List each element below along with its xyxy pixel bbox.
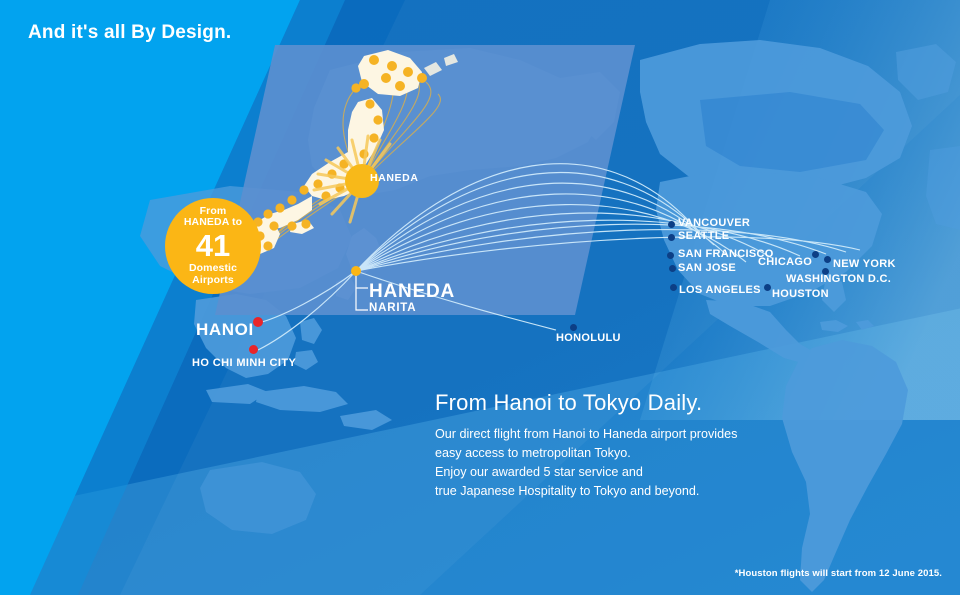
footnote: *Houston flights will start from 12 June… <box>735 568 942 579</box>
ho-chi-minh-city-dot <box>249 345 258 354</box>
seattle-dot <box>668 234 675 241</box>
new-york-dot <box>824 256 831 263</box>
marketing-copy-block: From Hanoi to Tokyo Daily. Our direct fl… <box>435 390 737 501</box>
chicago-dot <box>812 251 819 258</box>
honolulu-dot <box>570 324 577 331</box>
copy-line-1: Our direct flight from Hanoi to Haneda a… <box>435 425 737 444</box>
city-label-vancouver: VANCOUVER <box>678 217 750 229</box>
copy-title: From Hanoi to Tokyo Daily. <box>435 390 737 416</box>
city-label-seattle: SEATTLE <box>678 230 729 242</box>
houston-dot <box>764 284 771 291</box>
city-label-honolulu: HONOLULU <box>556 332 621 344</box>
badge-number: 41 <box>196 230 230 261</box>
san-francisco-dot <box>667 252 674 259</box>
city-label-ho-chi-minh-city: HO CHI MINH CITY <box>192 357 296 369</box>
city-label-hanoi: HANOI <box>196 320 254 340</box>
city-label-houston: HOUSTON <box>772 288 829 300</box>
copy-line-3: Enjoy our awarded 5 star service and <box>435 463 737 482</box>
washington-dc-dot <box>822 268 829 275</box>
city-label-san-jose: SAN JOSE <box>678 262 736 274</box>
city-label-narita: NARITA <box>369 302 416 314</box>
city-label-haneda: HANEDA <box>369 281 455 303</box>
city-label-los-angeles: LOS ANGELES <box>679 284 761 296</box>
infographic-canvas: HANEDA And it's all By Design. From HANE <box>0 0 960 595</box>
vancouver-dot <box>668 221 675 228</box>
haneda-hub-dot <box>351 266 361 276</box>
copy-line-2: easy access to metropolitan Tokyo. <box>435 444 737 463</box>
badge-line-4: Airports <box>192 275 234 287</box>
san-jose-dot <box>669 265 676 272</box>
city-label-new-york: NEW YORK <box>833 258 896 270</box>
domestic-airports-badge: From HANEDA to 41 Domestic Airports <box>165 198 261 294</box>
city-label-haneda-inset: HANEDA <box>370 172 419 184</box>
badge-line-3: Domestic <box>189 263 237 275</box>
los-angeles-dot <box>670 284 677 291</box>
city-label-chicago: CHICAGO <box>758 256 812 268</box>
page-headline: And it's all By Design. <box>28 22 231 44</box>
city-label-washington-dc: WASHINGTON D.C. <box>786 273 891 285</box>
hanoi-dot <box>253 317 263 327</box>
copy-line-4: true Japanese Hospitality to Tokyo and b… <box>435 482 737 501</box>
